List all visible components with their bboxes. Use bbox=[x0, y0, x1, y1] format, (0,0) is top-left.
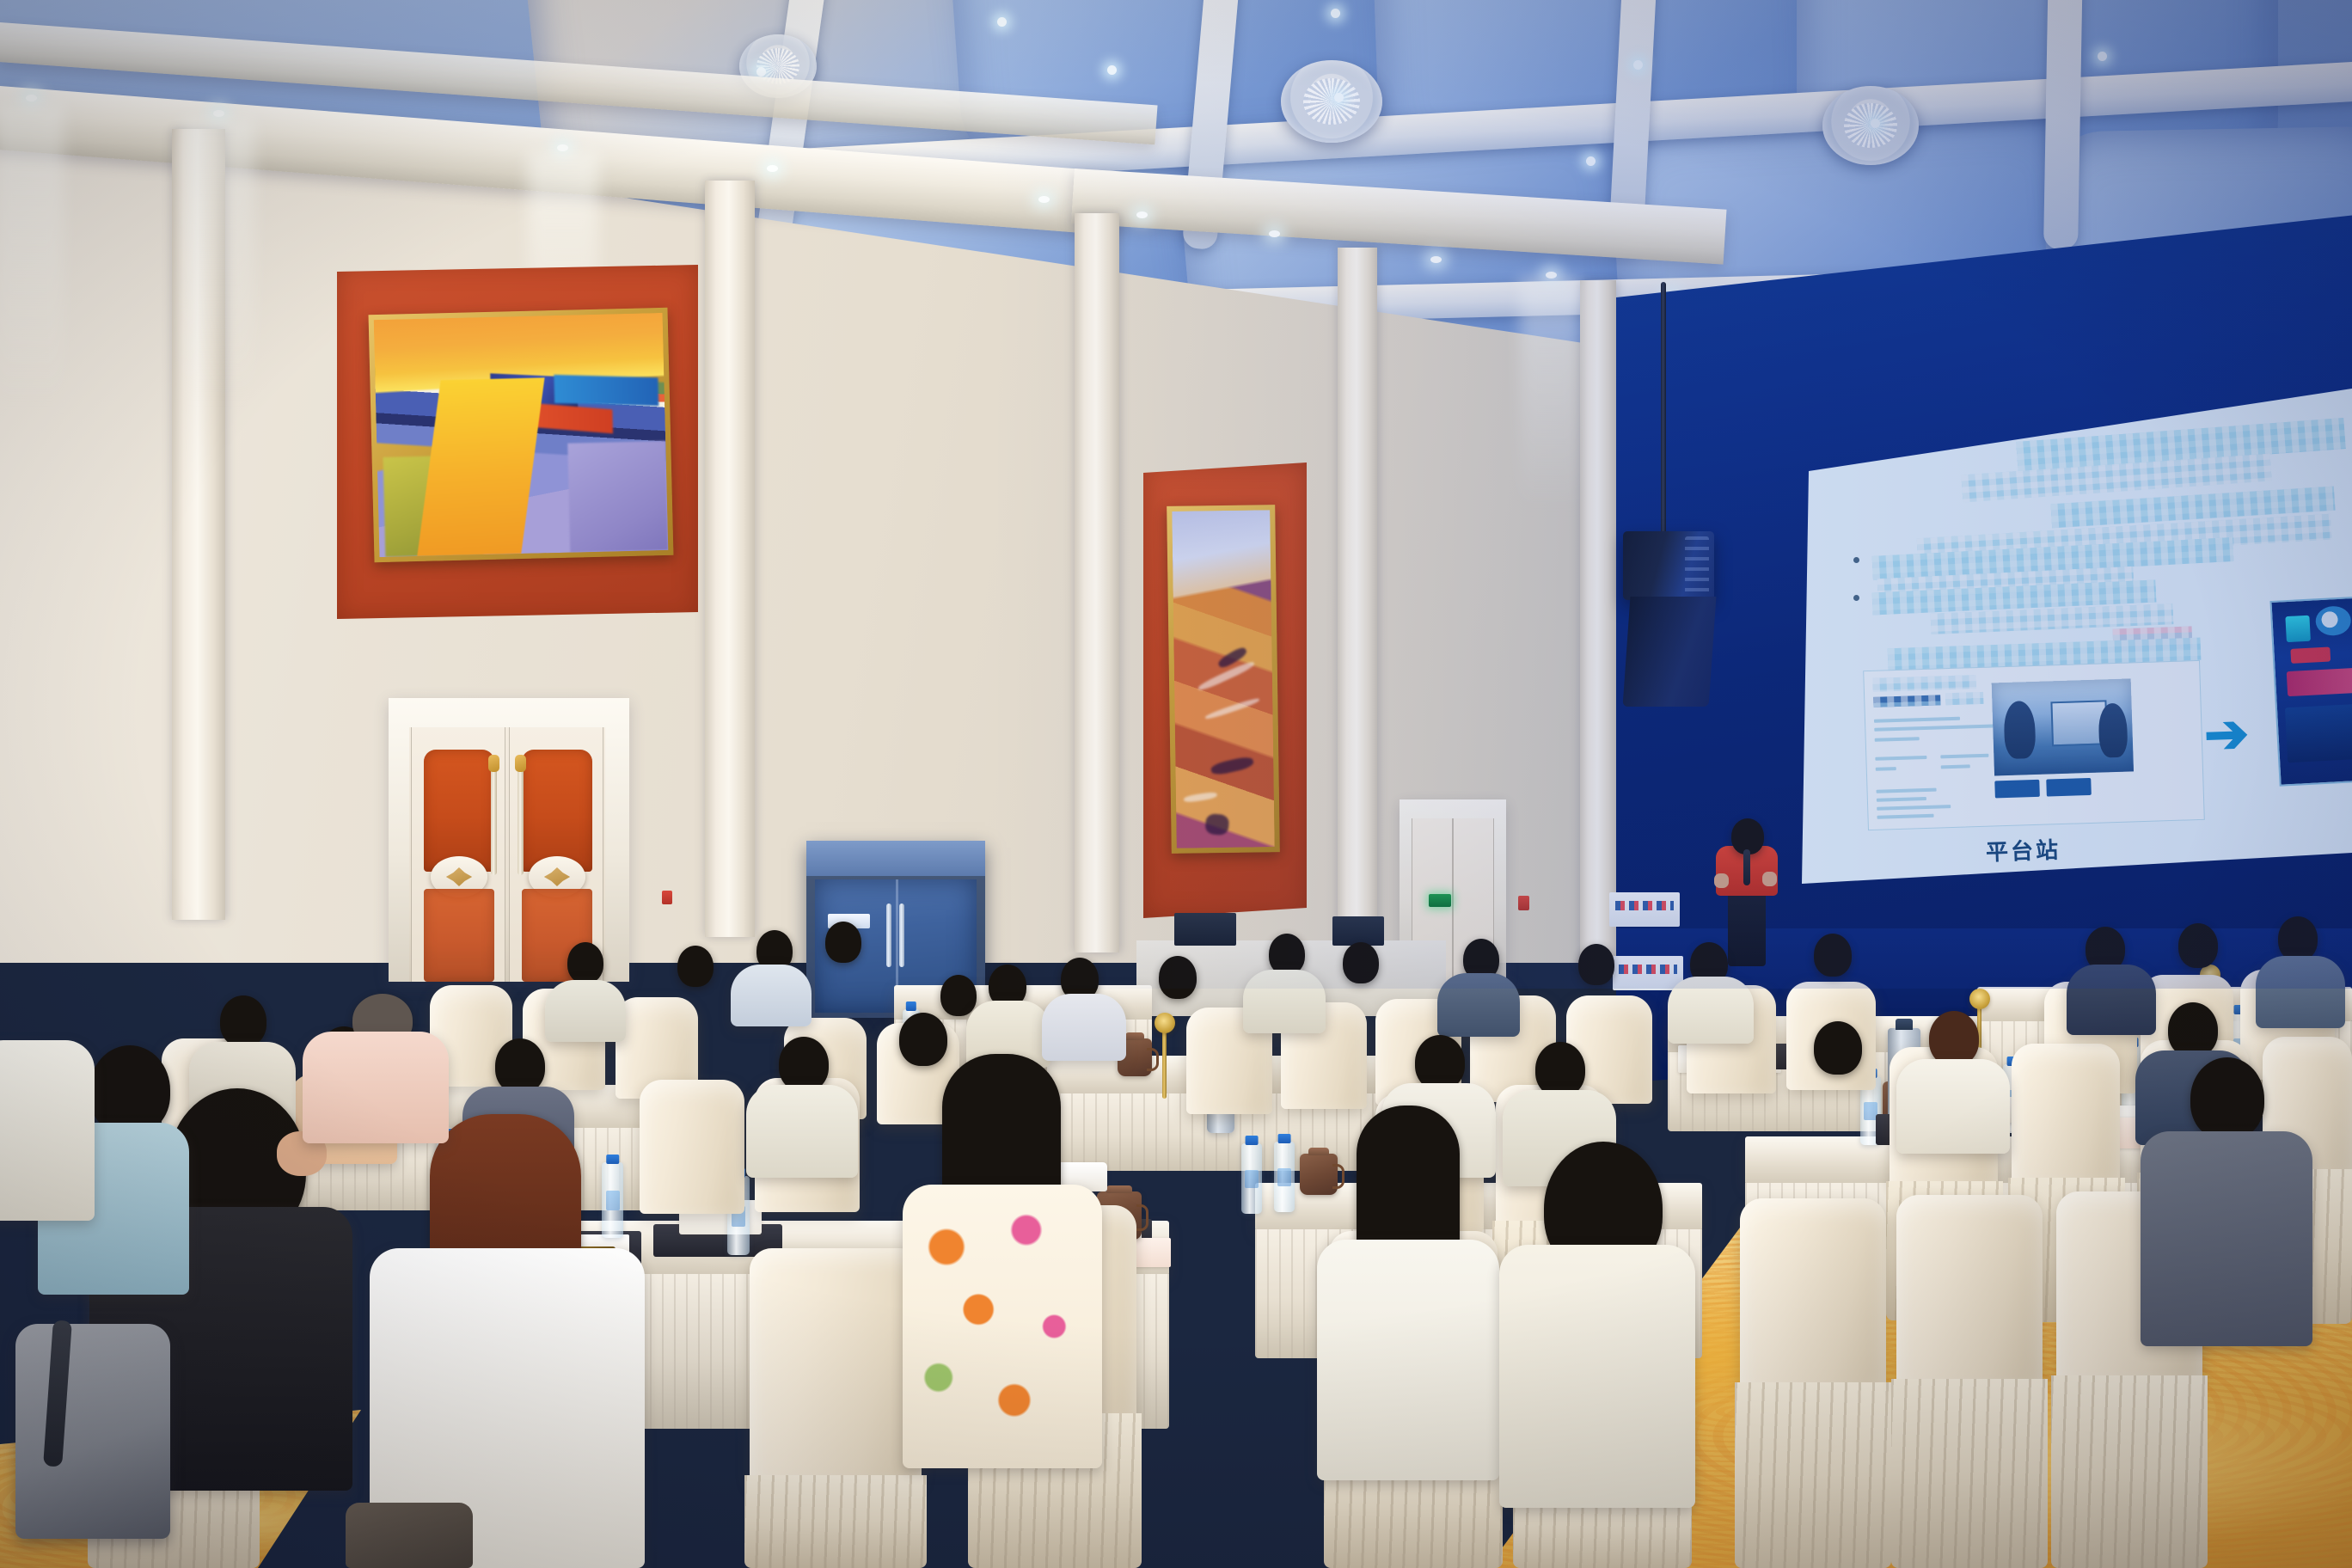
slide-button bbox=[1994, 780, 2040, 799]
slide-button bbox=[2046, 778, 2092, 797]
banquet-chair bbox=[640, 1080, 744, 1214]
attendee-torso bbox=[2256, 956, 2345, 1028]
table-number-stand bbox=[1162, 1030, 1167, 1099]
speaker-mount-pole bbox=[1661, 282, 1666, 548]
laptop[interactable] bbox=[1332, 916, 1384, 946]
ceiling-downlight bbox=[1136, 211, 1148, 218]
attendee-torso-grey bbox=[2141, 1131, 2312, 1346]
attendee-head bbox=[1929, 1011, 1979, 1066]
water-bottle[interactable] bbox=[1241, 1143, 1262, 1214]
attendee-head bbox=[1269, 934, 1305, 975]
slide-bullet-marker bbox=[1853, 557, 1859, 563]
ceiling-rosette bbox=[1281, 60, 1382, 143]
attendee-head bbox=[1415, 1035, 1465, 1090]
attendee-torso bbox=[1896, 1059, 2010, 1154]
chair-skirt bbox=[1891, 1379, 2048, 1568]
attendee-torso bbox=[1042, 994, 1126, 1061]
ceiling-downlight bbox=[213, 110, 224, 117]
attendee-head bbox=[1578, 944, 1614, 985]
presenter-hand bbox=[1714, 873, 1729, 888]
door-handle-right[interactable] bbox=[518, 767, 524, 875]
attendee-torso bbox=[1668, 977, 1754, 1044]
attendee-torso bbox=[746, 1085, 858, 1178]
ceiling-downlight bbox=[557, 144, 568, 151]
attendee-head bbox=[1814, 934, 1852, 977]
line-array-speaker-lower bbox=[1623, 597, 1717, 707]
attendee-head bbox=[220, 995, 266, 1047]
door-leaf-left[interactable] bbox=[411, 727, 505, 982]
slide-bullet-marker bbox=[1853, 595, 1859, 601]
wall-alarm-plate bbox=[662, 891, 672, 904]
wall-pilaster bbox=[705, 181, 755, 937]
slide-mobile-screenshot bbox=[2269, 596, 2352, 787]
event-banner bbox=[1609, 892, 1680, 927]
banquet-chair bbox=[1896, 1195, 2043, 1386]
door-assembly[interactable] bbox=[409, 727, 605, 982]
slide-screenshot-card bbox=[1863, 660, 2205, 830]
attendee-head bbox=[1535, 1042, 1585, 1097]
handbag bbox=[346, 1503, 473, 1568]
attendee-head bbox=[1814, 1021, 1862, 1075]
slide-caption: 平台站 bbox=[1985, 832, 2061, 867]
attendee-torso-cream-shirt bbox=[1499, 1245, 1695, 1508]
laptop[interactable] bbox=[1174, 913, 1236, 946]
painting-frame-1 bbox=[369, 308, 674, 562]
attendee-head bbox=[2168, 1002, 2218, 1057]
attendee-head bbox=[677, 946, 714, 987]
backpack bbox=[15, 1324, 170, 1539]
attendee-head bbox=[1343, 942, 1379, 983]
ceiling-downlight bbox=[1546, 272, 1557, 279]
vertical-abstract-painting bbox=[1172, 510, 1274, 848]
ceiling-downlight bbox=[26, 95, 37, 101]
ceiling-downlight bbox=[1430, 256, 1442, 263]
wall-pilaster bbox=[1075, 213, 1119, 952]
ceiling-downlight bbox=[1038, 196, 1050, 203]
conference-hall-photo: ➔ 平台站 bbox=[0, 0, 2352, 1568]
attendee-head bbox=[89, 1045, 170, 1135]
attendee-torso bbox=[545, 980, 626, 1042]
attendee-torso bbox=[0, 1040, 95, 1221]
ceiling-downlight bbox=[767, 165, 778, 172]
painting-frame-2 bbox=[1167, 505, 1280, 854]
abstract-landscape-painting bbox=[374, 313, 669, 557]
clay-teapot[interactable] bbox=[1300, 1154, 1338, 1195]
attendee-torso-pink-shirt bbox=[303, 1032, 449, 1143]
water-bottle[interactable] bbox=[1274, 1142, 1295, 1212]
line-array-speaker bbox=[1623, 531, 1714, 600]
slide-content: ➔ 平台站 bbox=[1793, 389, 2352, 884]
chair-skirt bbox=[744, 1475, 927, 1568]
attendee-head bbox=[567, 942, 603, 983]
attendee-head bbox=[2178, 923, 2218, 968]
attendee-head bbox=[1159, 956, 1197, 999]
flow-arrow-icon: ➔ bbox=[2203, 707, 2250, 763]
attendee-torso-floral bbox=[903, 1185, 1102, 1468]
water-bottle[interactable] bbox=[602, 1162, 623, 1238]
handheld-microphone bbox=[1743, 849, 1750, 885]
attendee-head bbox=[779, 1037, 829, 1092]
event-banner bbox=[1613, 956, 1683, 990]
chair-skirt bbox=[2051, 1375, 2208, 1568]
presenter-hand bbox=[1762, 872, 1777, 886]
banquet-chair bbox=[2012, 1044, 2120, 1183]
attendee-torso bbox=[731, 965, 812, 1026]
cabinet-handle[interactable] bbox=[886, 903, 891, 967]
attendee-head bbox=[899, 1013, 947, 1066]
ceiling-downlight bbox=[1269, 230, 1280, 237]
attendee-head bbox=[825, 922, 861, 963]
attendee-torso bbox=[1243, 970, 1326, 1033]
door-handle-left[interactable] bbox=[491, 767, 497, 875]
exit-sign bbox=[1429, 894, 1451, 907]
wall-alarm-plate bbox=[1518, 896, 1529, 910]
attendee-head bbox=[2190, 1057, 2264, 1140]
wall-pilaster bbox=[1580, 280, 1616, 968]
banquet-chair bbox=[1740, 1198, 1886, 1389]
attendee-head bbox=[495, 1038, 545, 1093]
cabinet-handle[interactable] bbox=[899, 903, 904, 967]
attendee-torso-white-top bbox=[1317, 1240, 1499, 1480]
wall-pilaster bbox=[1338, 248, 1377, 961]
projection-screen: ➔ 平台站 bbox=[1793, 389, 2352, 884]
banquet-chair bbox=[750, 1248, 922, 1482]
attendee-head bbox=[2278, 916, 2318, 961]
slide-embedded-photo bbox=[1992, 678, 2134, 775]
attendee-torso bbox=[2067, 965, 2156, 1035]
chair-skirt bbox=[1735, 1382, 1891, 1568]
attendee-head bbox=[940, 975, 977, 1016]
attendee-torso bbox=[1437, 973, 1520, 1037]
